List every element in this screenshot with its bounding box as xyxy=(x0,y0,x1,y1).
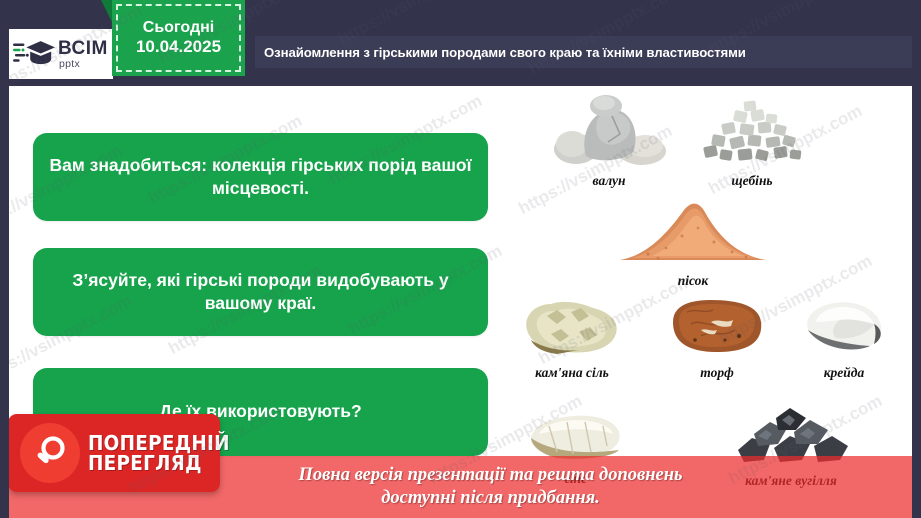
rock-label-chalk: крейда xyxy=(788,365,900,381)
logo-sub-text: pptx xyxy=(59,59,108,70)
task-text-1: Вам знадобиться: колекція гірських порід… xyxy=(49,154,472,200)
slide-canvas: ВСІМ pptx Сьогодні 10.04.2025 Ознайомлен… xyxy=(0,0,921,518)
banner-line-1: Повна версія презентації та решта доповн… xyxy=(299,465,683,485)
brand-logo[interactable]: ВСІМ pptx xyxy=(9,29,113,79)
banner-line-2: доступні після придбання. xyxy=(381,488,600,508)
page-title: Ознайомлення з гірськими породами свого … xyxy=(255,45,746,60)
logo-brand-text: ВСІМ xyxy=(58,39,108,58)
rock-item-sand: пісок xyxy=(608,194,778,289)
ribbon-fold-decoration xyxy=(101,0,112,22)
boulder-image xyxy=(544,94,674,171)
date-caption: Сьогодні xyxy=(143,19,214,37)
graduation-cap-icon xyxy=(13,37,55,71)
preview-badge[interactable]: ПОПЕРЕДНІЙ ПЕРЕГЛЯД xyxy=(8,414,220,492)
rock-label-rock-salt: кам'яна сіль xyxy=(508,365,636,381)
slide-edge-left xyxy=(0,0,9,518)
task-card-1[interactable]: Вам знадобиться: колекція гірських порід… xyxy=(33,133,488,221)
chalk-image xyxy=(788,296,900,363)
magnifier-icon xyxy=(20,423,80,483)
rock-item-boulder: валун xyxy=(544,94,674,189)
rock-item-chalk: крейда xyxy=(788,296,900,381)
rock-item-rock-salt: кам'яна сіль xyxy=(508,296,636,381)
sand-image xyxy=(608,194,778,271)
preview-label-line-2: ПЕРЕГЛЯД xyxy=(88,453,230,473)
rock-label-peat: торф xyxy=(658,365,776,381)
date-badge: Сьогодні 10.04.2025 xyxy=(112,0,245,76)
gravel-image xyxy=(682,94,822,171)
task-text-2: З’ясуйте, які гірські породи видобувають… xyxy=(49,269,472,315)
rock-label-boulder: валун xyxy=(544,173,674,189)
rock-item-peat: торф xyxy=(658,296,776,381)
slide-title-bar: Ознайомлення з гірськими породами свого … xyxy=(255,36,913,68)
task-card-2[interactable]: З’ясуйте, які гірські породи видобувають… xyxy=(33,248,488,336)
rock-salt-image xyxy=(508,296,636,363)
rock-label-gravel: щебінь xyxy=(682,173,822,189)
peat-image xyxy=(658,296,776,363)
rock-label-sand: пісок xyxy=(608,273,778,289)
preview-label-line-1: ПОПЕРЕДНІЙ xyxy=(88,433,230,453)
date-value: 10.04.2025 xyxy=(136,38,221,57)
rock-samples-panel: валун xyxy=(500,86,912,518)
rock-item-gravel: щебінь xyxy=(682,94,822,189)
slide-edge-right xyxy=(912,0,921,518)
